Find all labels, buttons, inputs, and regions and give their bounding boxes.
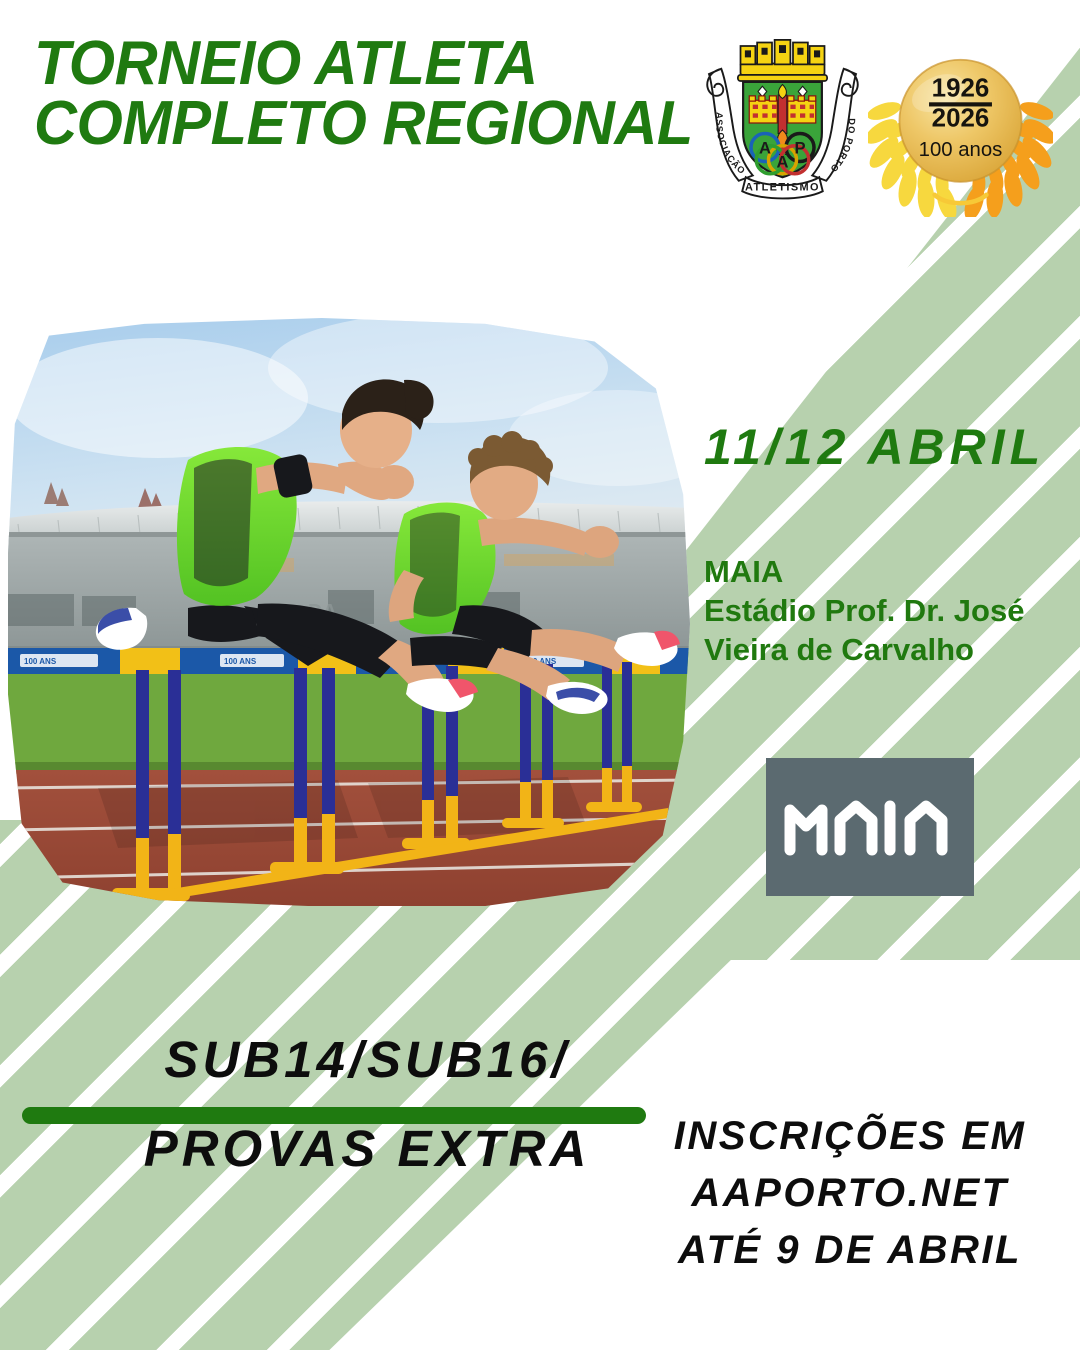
aap-crest-logo: A A P ATLETISMO ASSOCIAÇÃO DE DO PORTO [695,32,870,207]
medal-caption: 100 anos [919,139,1003,161]
centenary-medal-logo: 1926 2026 100 anos [868,32,1053,217]
event-venue: MAIA Estádio Prof. Dr. José Vieira de Ca… [704,552,1076,669]
venue-line-1: Estádio Prof. Dr. José [704,591,1076,630]
registration-info: INSCRIÇÕES EM AAPORTO.NET ATÉ 9 DE ABRIL [640,1108,1060,1278]
green-divider-bar [22,1107,646,1124]
categories-line-2: PROVAS EXTRA [34,1123,700,1174]
categories-line-1: SUB14/SUB16/ [34,1034,700,1085]
svg-text:A: A [777,153,789,172]
venue-line-2: Vieira de Carvalho [704,630,1076,669]
registration-website[interactable]: AAPORTO.NET [640,1165,1060,1222]
event-date: 11/12 ABRIL [704,418,1045,476]
title-line-1: TORNEIO ATLETA [34,34,668,94]
svg-text:A: A [759,139,771,158]
poster-title: TORNEIO ATLETA COMPLETO REGIONAL [34,34,668,154]
venue-city: MAIA [704,552,1076,591]
medal-year-to: 2026 [932,104,990,132]
svg-text:100 ANS: 100 ANS [224,657,257,666]
event-categories: SUB14/SUB16/ PROVAS EXTRA [0,1034,700,1174]
svg-text:P: P [794,139,805,158]
hurdles-photo: DA [8,318,690,906]
svg-text:ATLETISMO: ATLETISMO [745,181,820,193]
registration-line-1: INSCRIÇÕES EM [640,1108,1060,1165]
title-line-2: COMPLETO REGIONAL [34,94,668,154]
poster-canvas: TORNEIO ATLETA COMPLETO REGIONAL [0,0,1080,1350]
registration-deadline: ATÉ 9 DE ABRIL [640,1222,1060,1279]
medal-year-from: 1926 [932,75,990,103]
maia-municipality-logo [766,758,974,896]
svg-text:100 ANS: 100 ANS [24,657,57,666]
